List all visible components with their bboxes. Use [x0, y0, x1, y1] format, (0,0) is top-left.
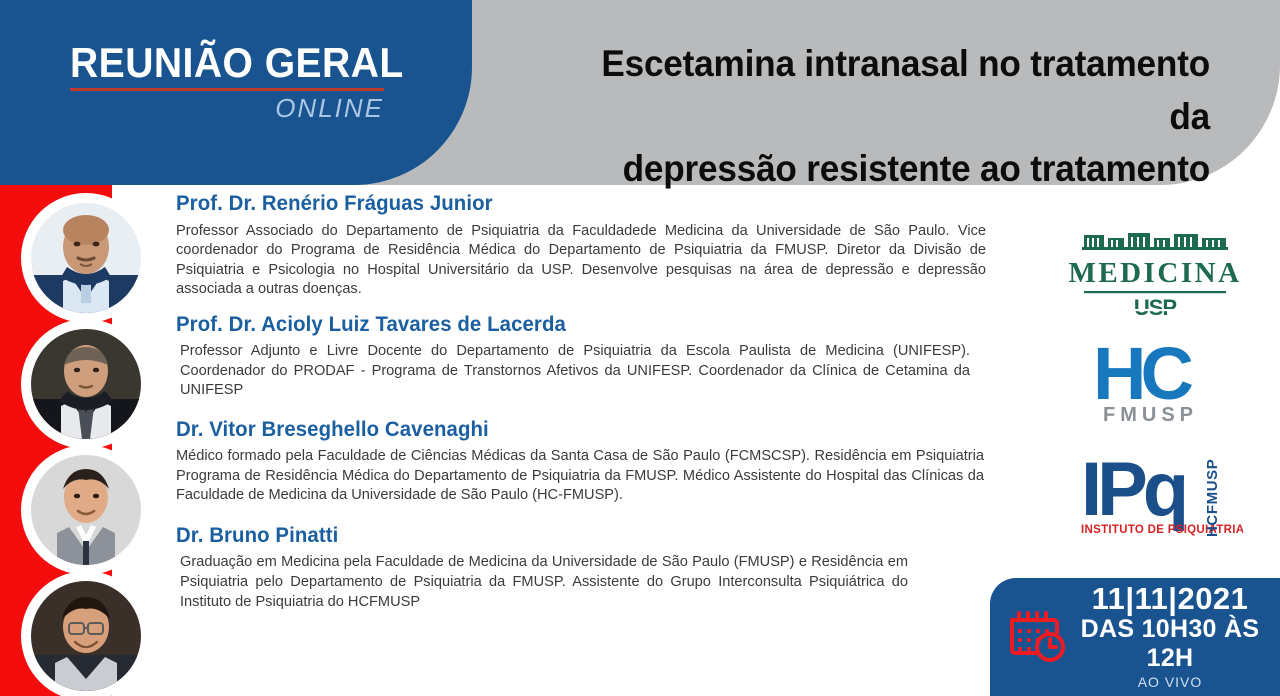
speaker-bio: Professor Adjunto e Livre Docente do Dep…	[180, 342, 970, 401]
speaker-name: Prof. Dr. Renério Fráguas Junior	[176, 188, 964, 220]
brand-underline	[70, 88, 384, 91]
brand-block: REUNIÃO GERAL ONLINE	[70, 42, 400, 122]
speaker-entry: Dr. Bruno Pinatti Graduação em Medicina …	[176, 520, 988, 612]
portrait-speaker-4	[26, 576, 146, 696]
speaker-name: Prof. Dr. Acioly Luiz Tavares de Lacerda	[176, 309, 964, 341]
portrait-speaker-1	[26, 198, 146, 318]
event-datetime-box: 11|11|2021 DAS 10H30 ÀS 12H AO VIVO	[990, 578, 1280, 696]
speaker-entry: Dr. Vitor Breseghello Cavenaghi Médico f…	[176, 414, 988, 506]
medicina-usp-logo: MEDICINA USP	[1040, 222, 1270, 327]
svg-text:HCFMUSP: HCFMUSP	[1204, 459, 1221, 537]
brand-subtitle: ONLINE	[70, 95, 384, 122]
calendar-clock-icon	[1006, 604, 1068, 671]
logo-column: MEDICINA USP HC FMUSP IPq INSTITUTO DE P…	[1040, 222, 1270, 545]
portrait-speaker-3	[26, 450, 146, 570]
poster-canvas: REUNIÃO GERAL ONLINE Escetamina intranas…	[0, 0, 1280, 696]
event-date: 11|11|2021	[1074, 582, 1266, 615]
portrait-image-2	[31, 329, 141, 439]
speaker-entry: Prof. Dr. Renério Fráguas Junior Profess…	[176, 188, 988, 300]
svg-text:USP: USP	[1134, 295, 1177, 320]
speaker-entry: Prof. Dr. Acioly Luiz Tavares de Lacerda…	[176, 309, 988, 401]
event-live-badge: AO VIVO	[1074, 673, 1266, 693]
speaker-name: Dr. Bruno Pinatti	[176, 520, 964, 552]
portrait-image-3	[31, 455, 141, 565]
speaker-bio: Médico formado pela Faculdade de Ciência…	[176, 447, 984, 506]
svg-text:IPq: IPq	[1081, 447, 1185, 532]
speaker-bio: Professor Associado do Departamento de P…	[176, 222, 986, 300]
portrait-image-1	[31, 203, 141, 313]
hc-fmusp-logo: HC FMUSP	[1040, 329, 1270, 437]
portrait-speaker-2	[26, 324, 146, 444]
event-time: DAS 10H30 ÀS 12H	[1074, 615, 1266, 673]
ipq-hcfmusp-logo: IPq INSTITUTO DE PSIQUIATRIA HCFMUSP	[1040, 439, 1270, 545]
event-datetime-text: 11|11|2021 DAS 10H30 ÀS 12H AO VIVO	[1074, 582, 1280, 693]
svg-text:FMUSP: FMUSP	[1103, 404, 1198, 426]
speaker-name: Dr. Vitor Breseghello Cavenaghi	[176, 414, 964, 446]
svg-text:MEDICINA: MEDICINA	[1068, 257, 1241, 289]
speaker-bio: Graduação em Medicina pela Faculdade de …	[180, 553, 908, 612]
talk-title-line-1: Escetamina intranasal no tratamento da	[555, 38, 1211, 143]
brand-title: REUNIÃO GERAL	[70, 42, 377, 84]
speakers-list: Prof. Dr. Renério Fráguas Junior Profess…	[176, 188, 988, 616]
portrait-image-4	[31, 581, 141, 691]
svg-text:HC: HC	[1093, 333, 1192, 415]
talk-title: Escetamina intranasal no tratamento da d…	[555, 38, 1211, 196]
